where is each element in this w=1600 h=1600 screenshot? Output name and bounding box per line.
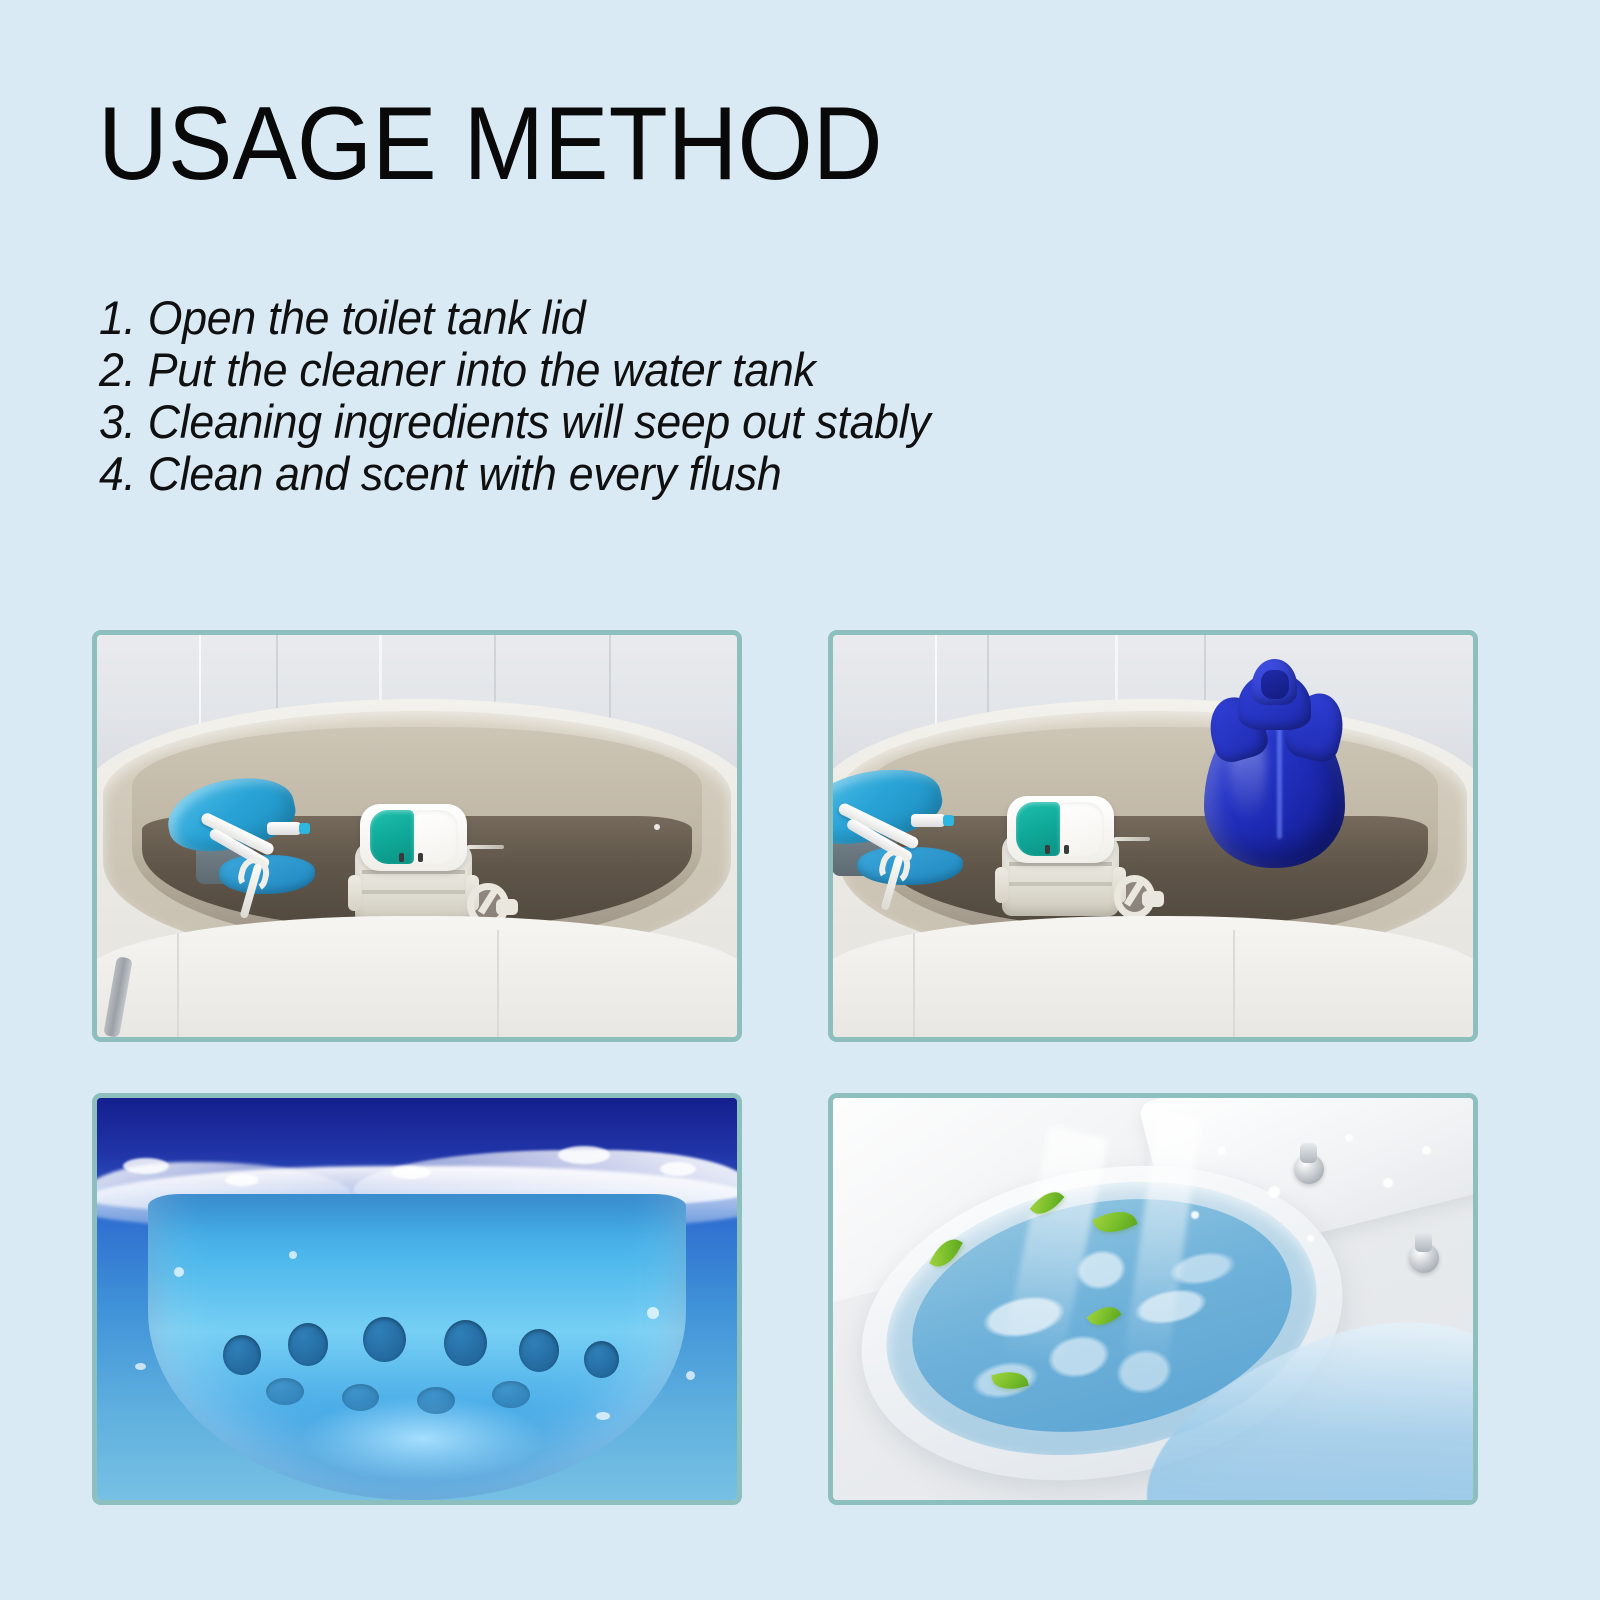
tank-front-face [833,916,1473,1037]
usage-step-2: 2. Put the cleaner into the water tank [99,344,930,396]
sparkle [1422,1146,1431,1155]
fill-valve-nozzle [267,822,301,835]
dome-hole [519,1329,559,1372]
flush-valve-rod [1114,837,1150,841]
underwater-scene [97,1098,737,1500]
usage-step-1: 1. Open the toilet tank lid [99,292,930,344]
dome-hole [363,1317,406,1363]
flush-valve-slot-right [418,853,423,862]
bubble [289,1251,297,1259]
rose-cleaner-product [1204,659,1345,868]
dome-hole [584,1341,619,1378]
panel-fresh-flush [828,1093,1478,1505]
dome-hole [492,1381,530,1408]
usage-steps-list: 1. Open the toilet tank lid 2. Put the c… [99,292,974,500]
panel-dissolve-underwater [92,1093,742,1505]
flush-valve-top-plate [360,804,467,872]
panel-insert-cleaner-image [833,635,1473,1037]
panel-open-tank [92,630,742,1042]
fill-valve-assembly [833,772,942,868]
tank-front-face [97,916,737,1037]
seat-hinge [1294,1154,1324,1184]
fill-valve-assembly [167,780,295,876]
flush-button-teal [370,810,414,864]
toilet-bowl-scene [833,1098,1473,1500]
flush-valve-adjust-wheel [1114,875,1155,918]
panel-open-tank-image [97,635,737,1037]
toilet-tank-scene [833,635,1473,1037]
bubble [596,1412,610,1420]
sparkle [1307,1235,1314,1242]
flush-button-teal [1016,802,1060,856]
panel-dissolve-underwater-image [97,1098,737,1500]
panel-insert-cleaner [828,630,1478,1042]
flush-valve-slot-left [399,853,404,862]
perforated-dome [148,1194,686,1500]
panel-fresh-flush-image [833,1098,1473,1500]
dome-hole [417,1387,455,1414]
dome-hole [444,1320,487,1366]
page-title: USAGE METHOD [98,92,883,196]
dome-hole [223,1335,261,1375]
flush-valve-rod [467,845,503,849]
toilet-tank-scene [97,635,737,1037]
flush-valve-ear-left [348,875,361,911]
usage-step-3: 3. Cleaning ingredients will seep out st… [99,396,930,448]
seat-hinge [1409,1243,1439,1273]
bubble [686,1371,695,1380]
image-panel-grid [92,630,1478,1505]
flush-valve-slot-left [1045,845,1050,854]
flush-valve-top-plate [1007,796,1114,864]
dual-flush-valve [999,796,1121,917]
flush-valve-slot-right [1064,845,1069,854]
bubble [135,1363,146,1370]
fill-valve-nozzle [911,814,945,827]
dome-hole [266,1378,304,1405]
dual-flush-valve [353,804,475,925]
flush-valve-ear-left [995,867,1008,903]
rose-core [1261,670,1289,699]
bubble [174,1267,184,1277]
sparkle [1191,1211,1199,1219]
dome-hole [288,1323,328,1366]
usage-step-4: 4. Clean and scent with every flush [99,448,930,500]
